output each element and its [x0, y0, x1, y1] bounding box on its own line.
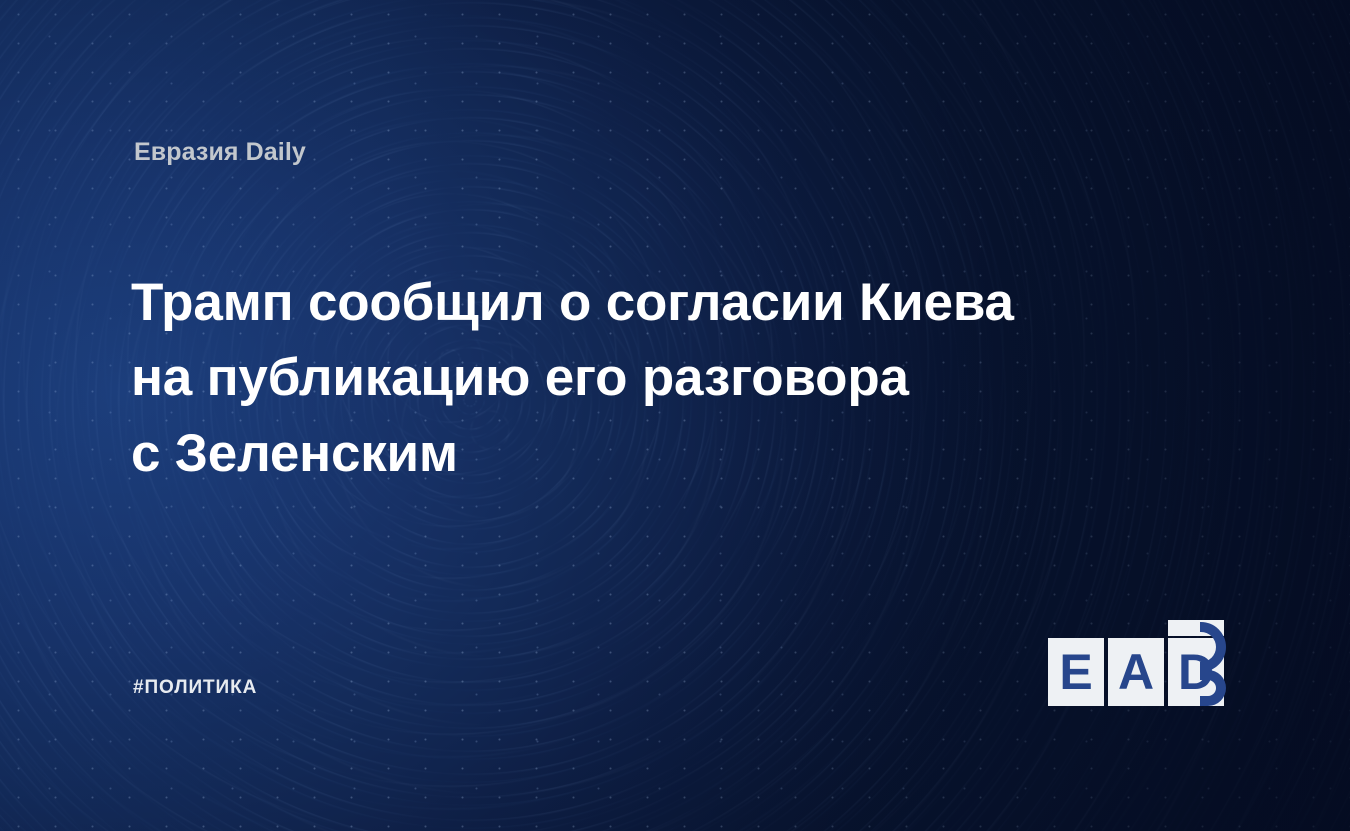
- logo-letter-a: A: [1108, 647, 1164, 697]
- headline-line-3: с Зеленским: [131, 416, 1061, 491]
- headline-line-2: на публикацию его разговора: [131, 340, 1061, 415]
- logo-tile-a: A: [1108, 638, 1164, 706]
- logo-tile-e: E: [1048, 638, 1104, 706]
- logo-letter-e: E: [1048, 647, 1104, 697]
- headline-line-1: Трамп сообщил о согласии Киева: [131, 265, 1061, 340]
- publisher-brand-name: Евразия Daily: [134, 138, 306, 167]
- page-title: Трамп сообщил о согласии Киева на публик…: [131, 265, 1061, 491]
- category-hashtag[interactable]: #ПОЛИТИКА: [133, 677, 257, 699]
- news-card: Евразия Daily Трамп сообщил о согласии К…: [0, 0, 1350, 831]
- eadaily-logo: E A D: [1048, 620, 1228, 706]
- card-content: Евразия Daily Трамп сообщил о согласии К…: [0, 0, 1350, 831]
